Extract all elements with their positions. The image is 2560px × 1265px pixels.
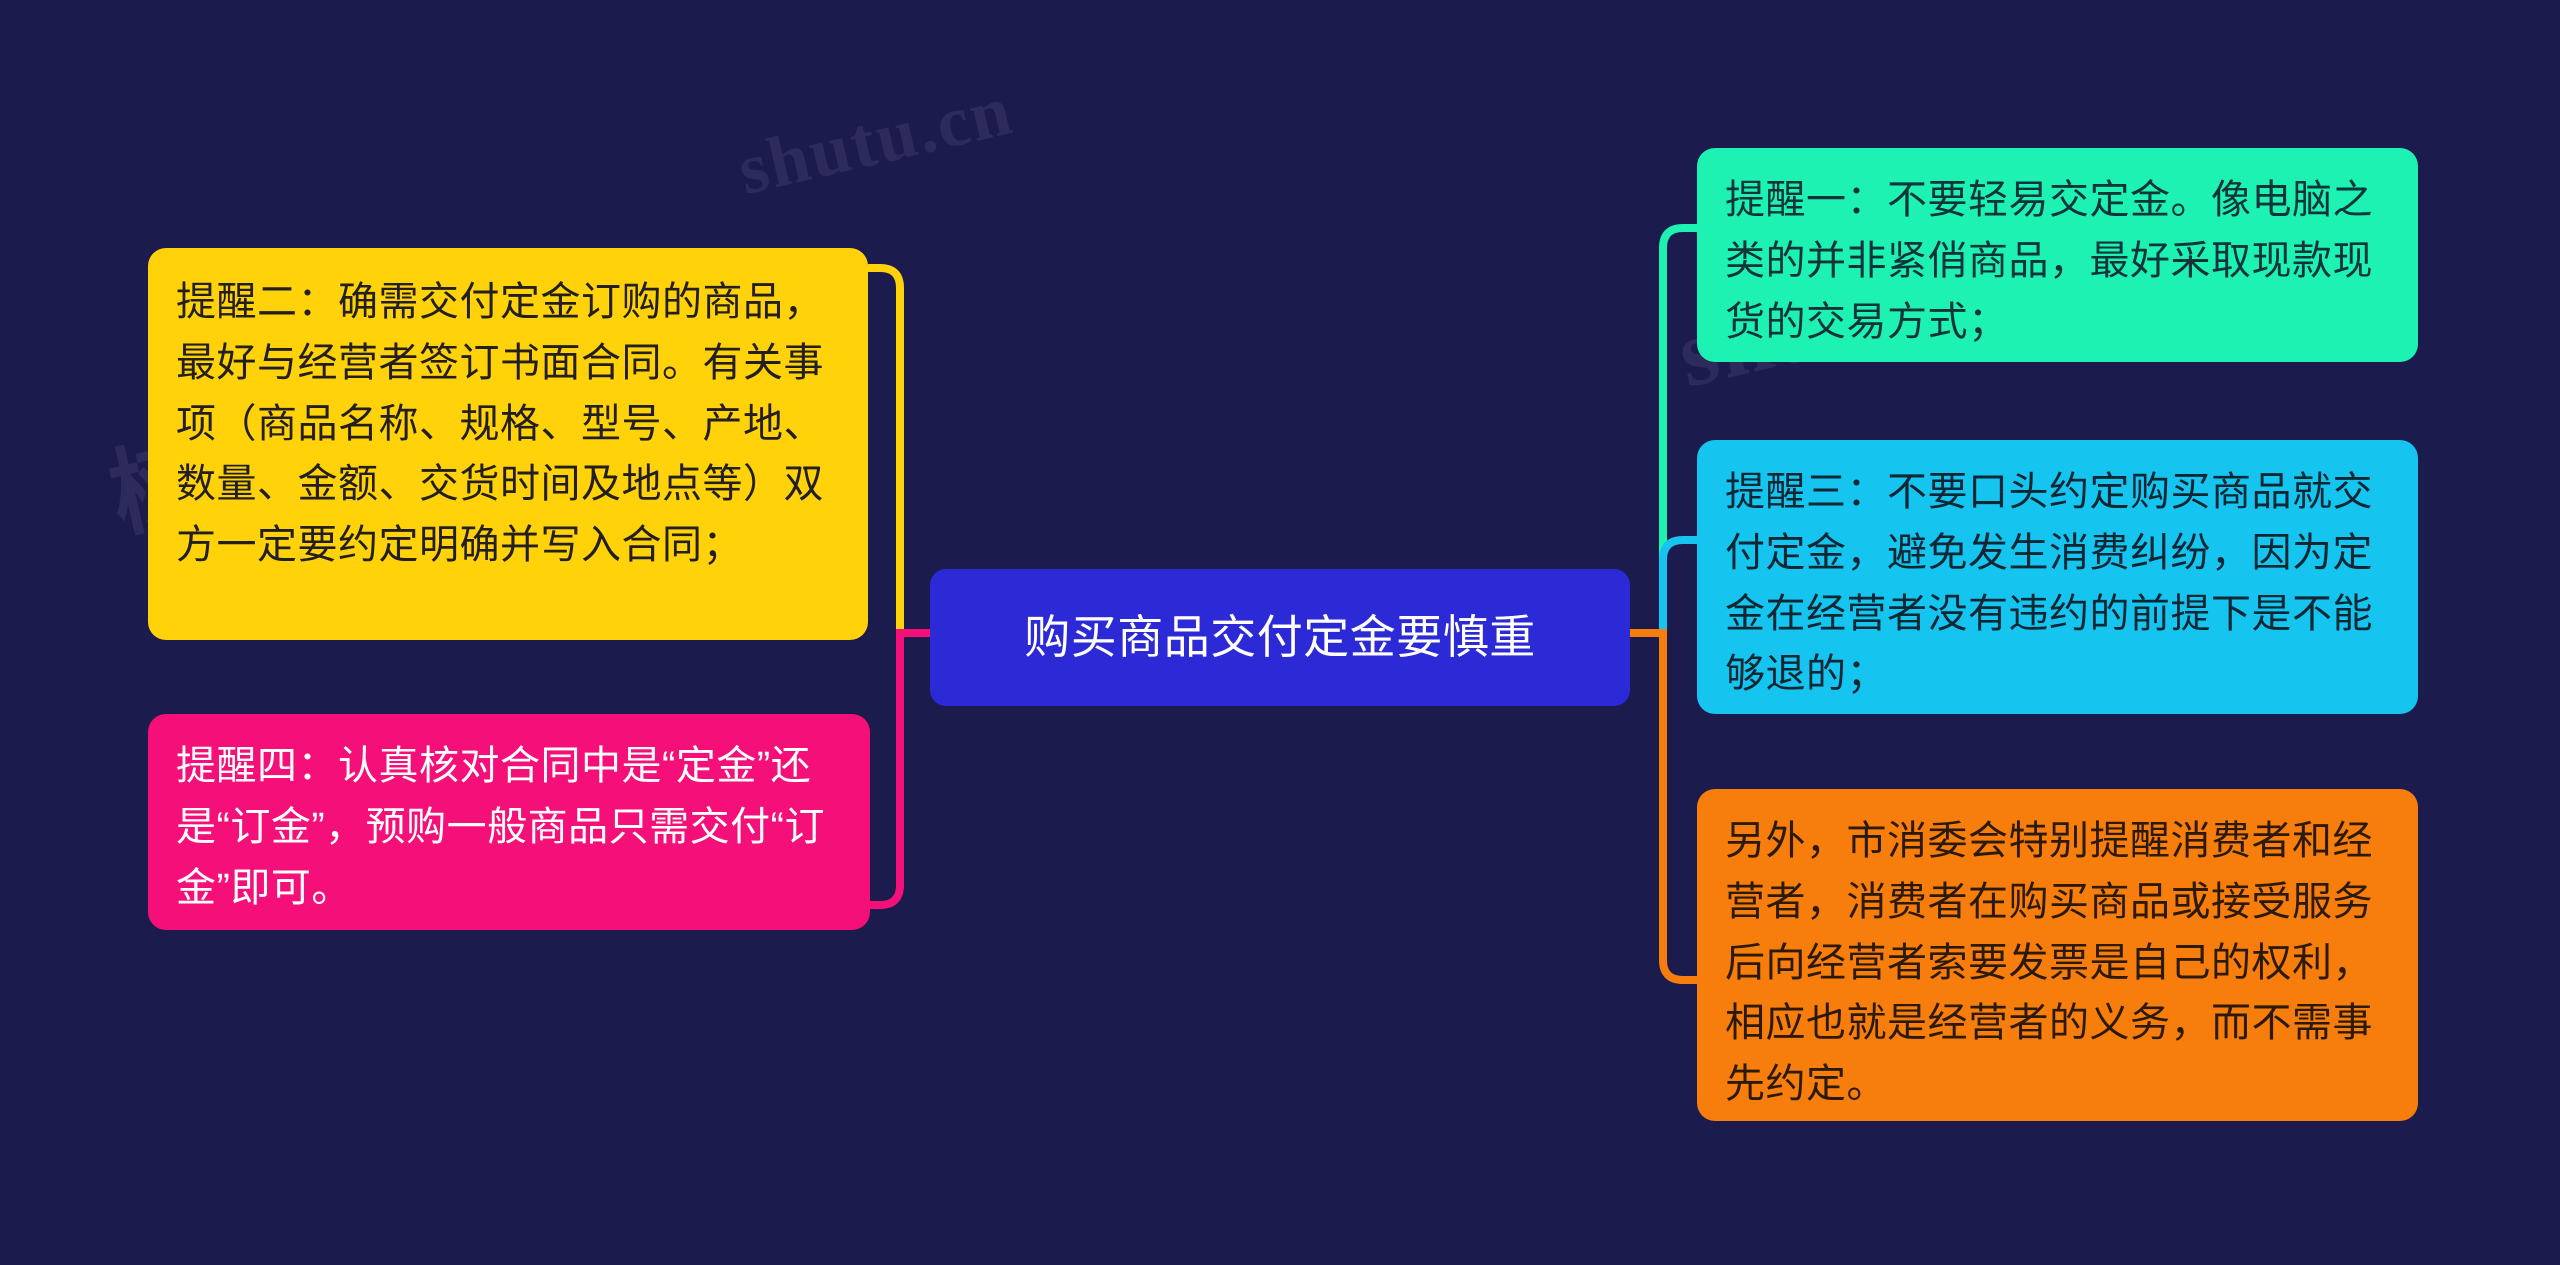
central-topic-label: 购买商品交付定金要慎重 [1024, 610, 1536, 665]
connector-cyan [1630, 540, 1697, 633]
central-topic-node[interactable]: 购买商品交付定金要慎重 [930, 569, 1630, 706]
connector-orange [1630, 633, 1697, 980]
watermark-text: shutu.cn [731, 68, 1021, 211]
branch-node-label: 另外，市消委会特别提醒消费者和经营者，消费者在购买商品或接受服务后向经营者索要发… [1725, 811, 2390, 1115]
connector-pink [870, 633, 930, 905]
branch-node-label: 提醒三：不要口头约定购买商品就交付定金，避免发生消费纠纷，因为定金在经营者没有违… [1725, 462, 2390, 705]
branch-node-label: 提醒二：确需交付定金订购的商品，最好与经营者签订书面合同。有关事项（商品名称、规… [176, 272, 840, 576]
connector-yellow [868, 268, 930, 633]
branch-node-label: 提醒一：不要轻易交定金。像电脑之类的并非紧俏商品，最好采取现款现货的交易方式； [1725, 170, 2390, 352]
branch-node-reminder-one[interactable]: 提醒一：不要轻易交定金。像电脑之类的并非紧俏商品，最好采取现款现货的交易方式； [1697, 148, 2418, 362]
branch-node-reminder-three[interactable]: 提醒三：不要口头约定购买商品就交付定金，避免发生消费纠纷，因为定金在经营者没有违… [1697, 440, 2418, 714]
branch-node-label: 提醒四：认真核对合同中是“定金”还是“订金”，预购一般商品只需交付“订金”即可。 [176, 736, 842, 918]
branch-node-reminder-four[interactable]: 提醒四：认真核对合同中是“定金”还是“订金”，预购一般商品只需交付“订金”即可。 [148, 714, 870, 930]
connector-green [1630, 228, 1697, 633]
branch-node-additional-note[interactable]: 另外，市消委会特别提醒消费者和经营者，消费者在购买商品或接受服务后向经营者索要发… [1697, 789, 2418, 1121]
mindmap-canvas: 树图 shutu.cn shutu.cn shutu.cn 提醒二：确需交付定金… [0, 0, 2560, 1265]
branch-node-reminder-two[interactable]: 提醒二：确需交付定金订购的商品，最好与经营者签订书面合同。有关事项（商品名称、规… [148, 248, 868, 640]
